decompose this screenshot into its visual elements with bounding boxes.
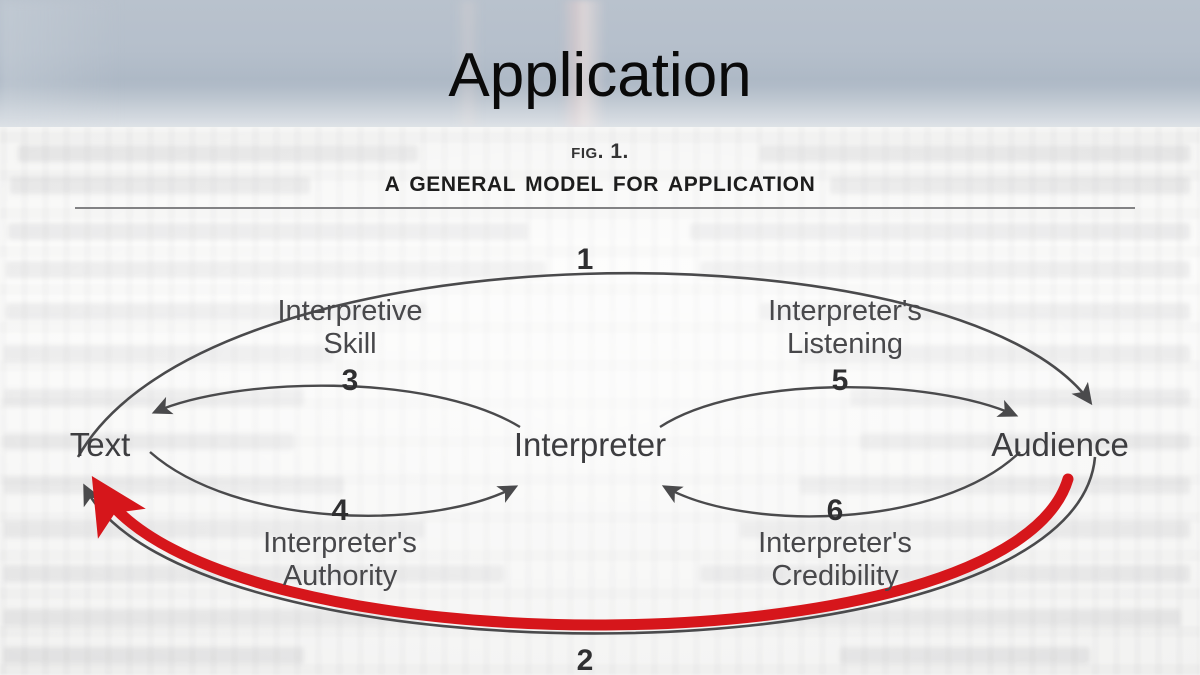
edge-1-path	[78, 273, 1090, 457]
page-title: Application	[0, 40, 1200, 112]
edge-4-path	[150, 452, 515, 516]
model-diagram	[0, 127, 1200, 675]
edge-6-path	[665, 452, 1020, 516]
edge-5-path	[660, 387, 1015, 427]
slide: Application Fig. 1. A General	[0, 0, 1200, 675]
slide-title-band: Application	[0, 0, 1200, 128]
edge-3-path	[155, 386, 520, 427]
edge-2-path	[85, 457, 1095, 633]
scanned-figure-image: Fig. 1. A General Model for Application	[0, 127, 1200, 675]
